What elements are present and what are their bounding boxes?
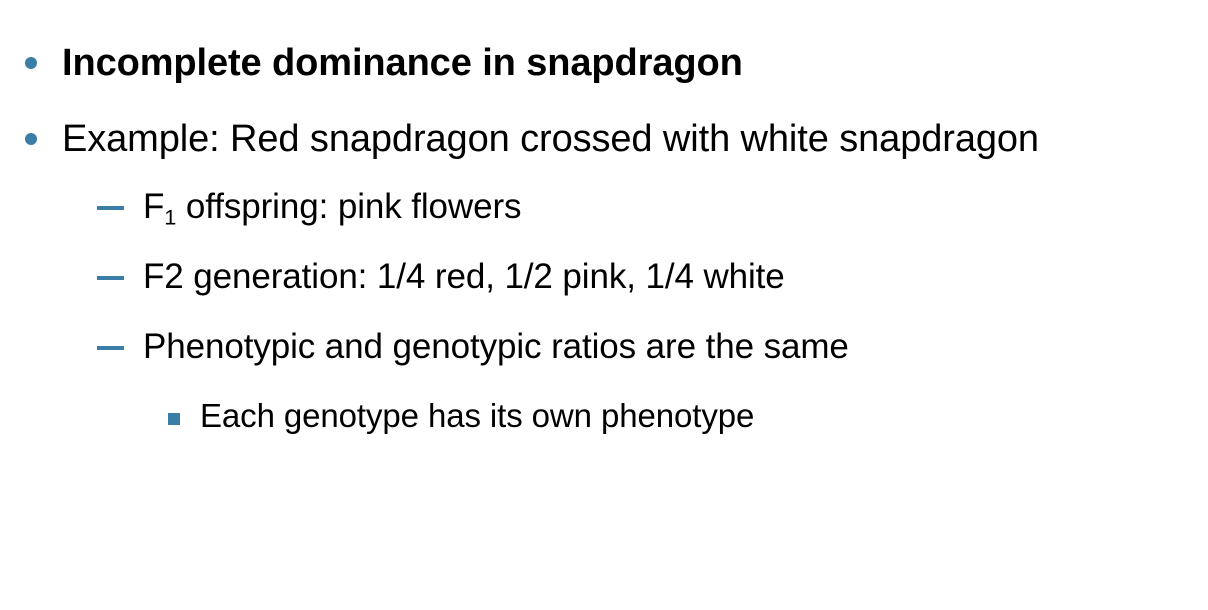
sub-sub-bullet-item-each-genotype[interactable]: Each genotype has its own phenotype	[0, 395, 1208, 437]
bullet-item-example[interactable]: Example: Red snapdragon crossed with whi…	[0, 115, 1208, 163]
dash-bullet-icon	[97, 346, 124, 350]
square-bullet-icon	[168, 413, 180, 425]
sub-bullet-text-f2-generation: F2 generation: 1/4 red, 1/2 pink, 1/4 wh…	[143, 255, 1208, 299]
sub-bullet-text-ratios: Phenotypic and genotypic ratios are the …	[143, 325, 1208, 369]
bullet-text-incomplete-dominance: Incomplete dominance in snapdragon	[62, 39, 1122, 87]
sub-sub-bullet-text-each-genotype: Each genotype has its own phenotype	[200, 395, 1208, 437]
sub-bullet-item-f1-offspring[interactable]: F1 offspring: pink flowers	[0, 185, 1208, 229]
bullet-text-example: Example: Red snapdragon crossed with whi…	[62, 115, 1122, 163]
slide-body: Incomplete dominance in snapdragon Examp…	[0, 0, 1208, 437]
f1-prefix: F	[143, 187, 164, 226]
f1-subscript: 1	[164, 205, 176, 230]
dash-bullet-icon	[97, 276, 124, 280]
sub-bullet-item-f2-generation[interactable]: F2 generation: 1/4 red, 1/2 pink, 1/4 wh…	[0, 255, 1208, 299]
dash-bullet-icon	[97, 206, 124, 210]
f1-rest: offspring: pink flowers	[176, 187, 521, 226]
sub-bullet-item-ratios[interactable]: Phenotypic and genotypic ratios are the …	[0, 325, 1208, 369]
sub-bullet-text-f1-offspring: F1 offspring: pink flowers	[143, 185, 1208, 229]
slide-canvas: Incomplete dominance in snapdragon Examp…	[0, 0, 1208, 610]
round-bullet-icon	[25, 133, 37, 145]
round-bullet-icon	[25, 57, 37, 69]
bullet-item-incomplete-dominance[interactable]: Incomplete dominance in snapdragon	[0, 39, 1208, 87]
